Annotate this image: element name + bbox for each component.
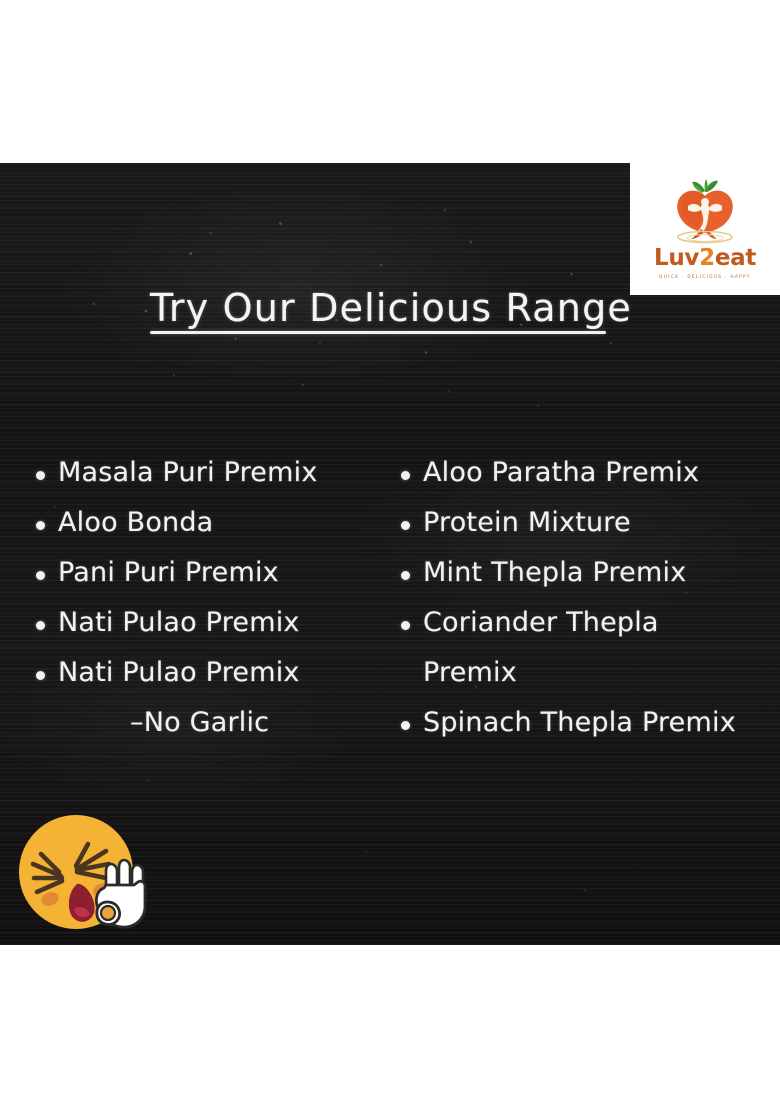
brand-tagline: QUICK . DELICIOUS . HAPPY bbox=[659, 274, 751, 279]
brand-logo-card: Luv2eat QUICK . DELICIOUS . HAPPY bbox=[630, 163, 780, 295]
bullet-icon bbox=[36, 621, 45, 630]
list-item-continuation: Premix bbox=[395, 652, 765, 694]
bullet-icon bbox=[36, 521, 45, 530]
list-item: Mint Thepla Premix bbox=[395, 552, 765, 594]
list-item-sublabel: –No Garlic bbox=[30, 702, 390, 744]
bullet-icon bbox=[401, 471, 410, 480]
page-title: Try Our Delicious Range bbox=[150, 286, 632, 330]
brand-wordmark-part3: eat bbox=[715, 245, 756, 271]
poster-canvas: Luv2eat QUICK . DELICIOUS . HAPPY Try Ou… bbox=[0, 0, 780, 1108]
bullet-icon bbox=[401, 621, 410, 630]
list-item-label: Aloo Paratha Premix bbox=[423, 457, 699, 488]
yawning-face-emoji bbox=[14, 806, 164, 936]
list-item-label: Nati Pulao Premix bbox=[58, 657, 300, 688]
brand-wordmark-part1: Luv bbox=[654, 245, 699, 271]
tomato-heart-logo-icon bbox=[668, 179, 742, 245]
list-item: Aloo Paratha Premix bbox=[395, 452, 765, 494]
list-item-label: Masala Puri Premix bbox=[58, 457, 318, 488]
menu-column-right: Aloo Paratha Premix Protein Mixture Mint… bbox=[395, 452, 765, 752]
bullet-icon bbox=[401, 521, 410, 530]
bullet-icon bbox=[401, 721, 410, 730]
list-item-label: Nati Pulao Premix bbox=[58, 607, 300, 638]
list-item: Coriander Thepla bbox=[395, 602, 765, 644]
list-item-label: Protein Mixture bbox=[423, 507, 631, 538]
bullet-icon bbox=[36, 571, 45, 580]
bullet-icon bbox=[36, 671, 45, 680]
list-item: Spinach Thepla Premix bbox=[395, 702, 765, 744]
page-title-underline bbox=[150, 331, 606, 334]
list-item-label: Coriander Thepla bbox=[423, 607, 659, 638]
bullet-icon bbox=[36, 471, 45, 480]
list-item: Nati Pulao Premix bbox=[30, 602, 390, 644]
list-item-label: Spinach Thepla Premix bbox=[423, 707, 736, 738]
logo-leaves-icon bbox=[692, 179, 718, 193]
list-item: Pani Puri Premix bbox=[30, 552, 390, 594]
brand-wordmark-part2: 2 bbox=[699, 245, 715, 271]
list-item-label: Pani Puri Premix bbox=[58, 557, 279, 588]
list-item: Aloo Bonda bbox=[30, 502, 390, 544]
brand-wordmark: Luv2eat bbox=[654, 247, 756, 270]
list-item: Masala Puri Premix bbox=[30, 452, 390, 494]
bullet-icon bbox=[401, 571, 410, 580]
list-item: Protein Mixture bbox=[395, 502, 765, 544]
list-item-label: Aloo Bonda bbox=[58, 507, 213, 538]
list-item: Nati Pulao Premix bbox=[30, 652, 390, 694]
list-item-label: Mint Thepla Premix bbox=[423, 557, 686, 588]
menu-column-left: Masala Puri Premix Aloo Bonda Pani Puri … bbox=[30, 452, 390, 752]
